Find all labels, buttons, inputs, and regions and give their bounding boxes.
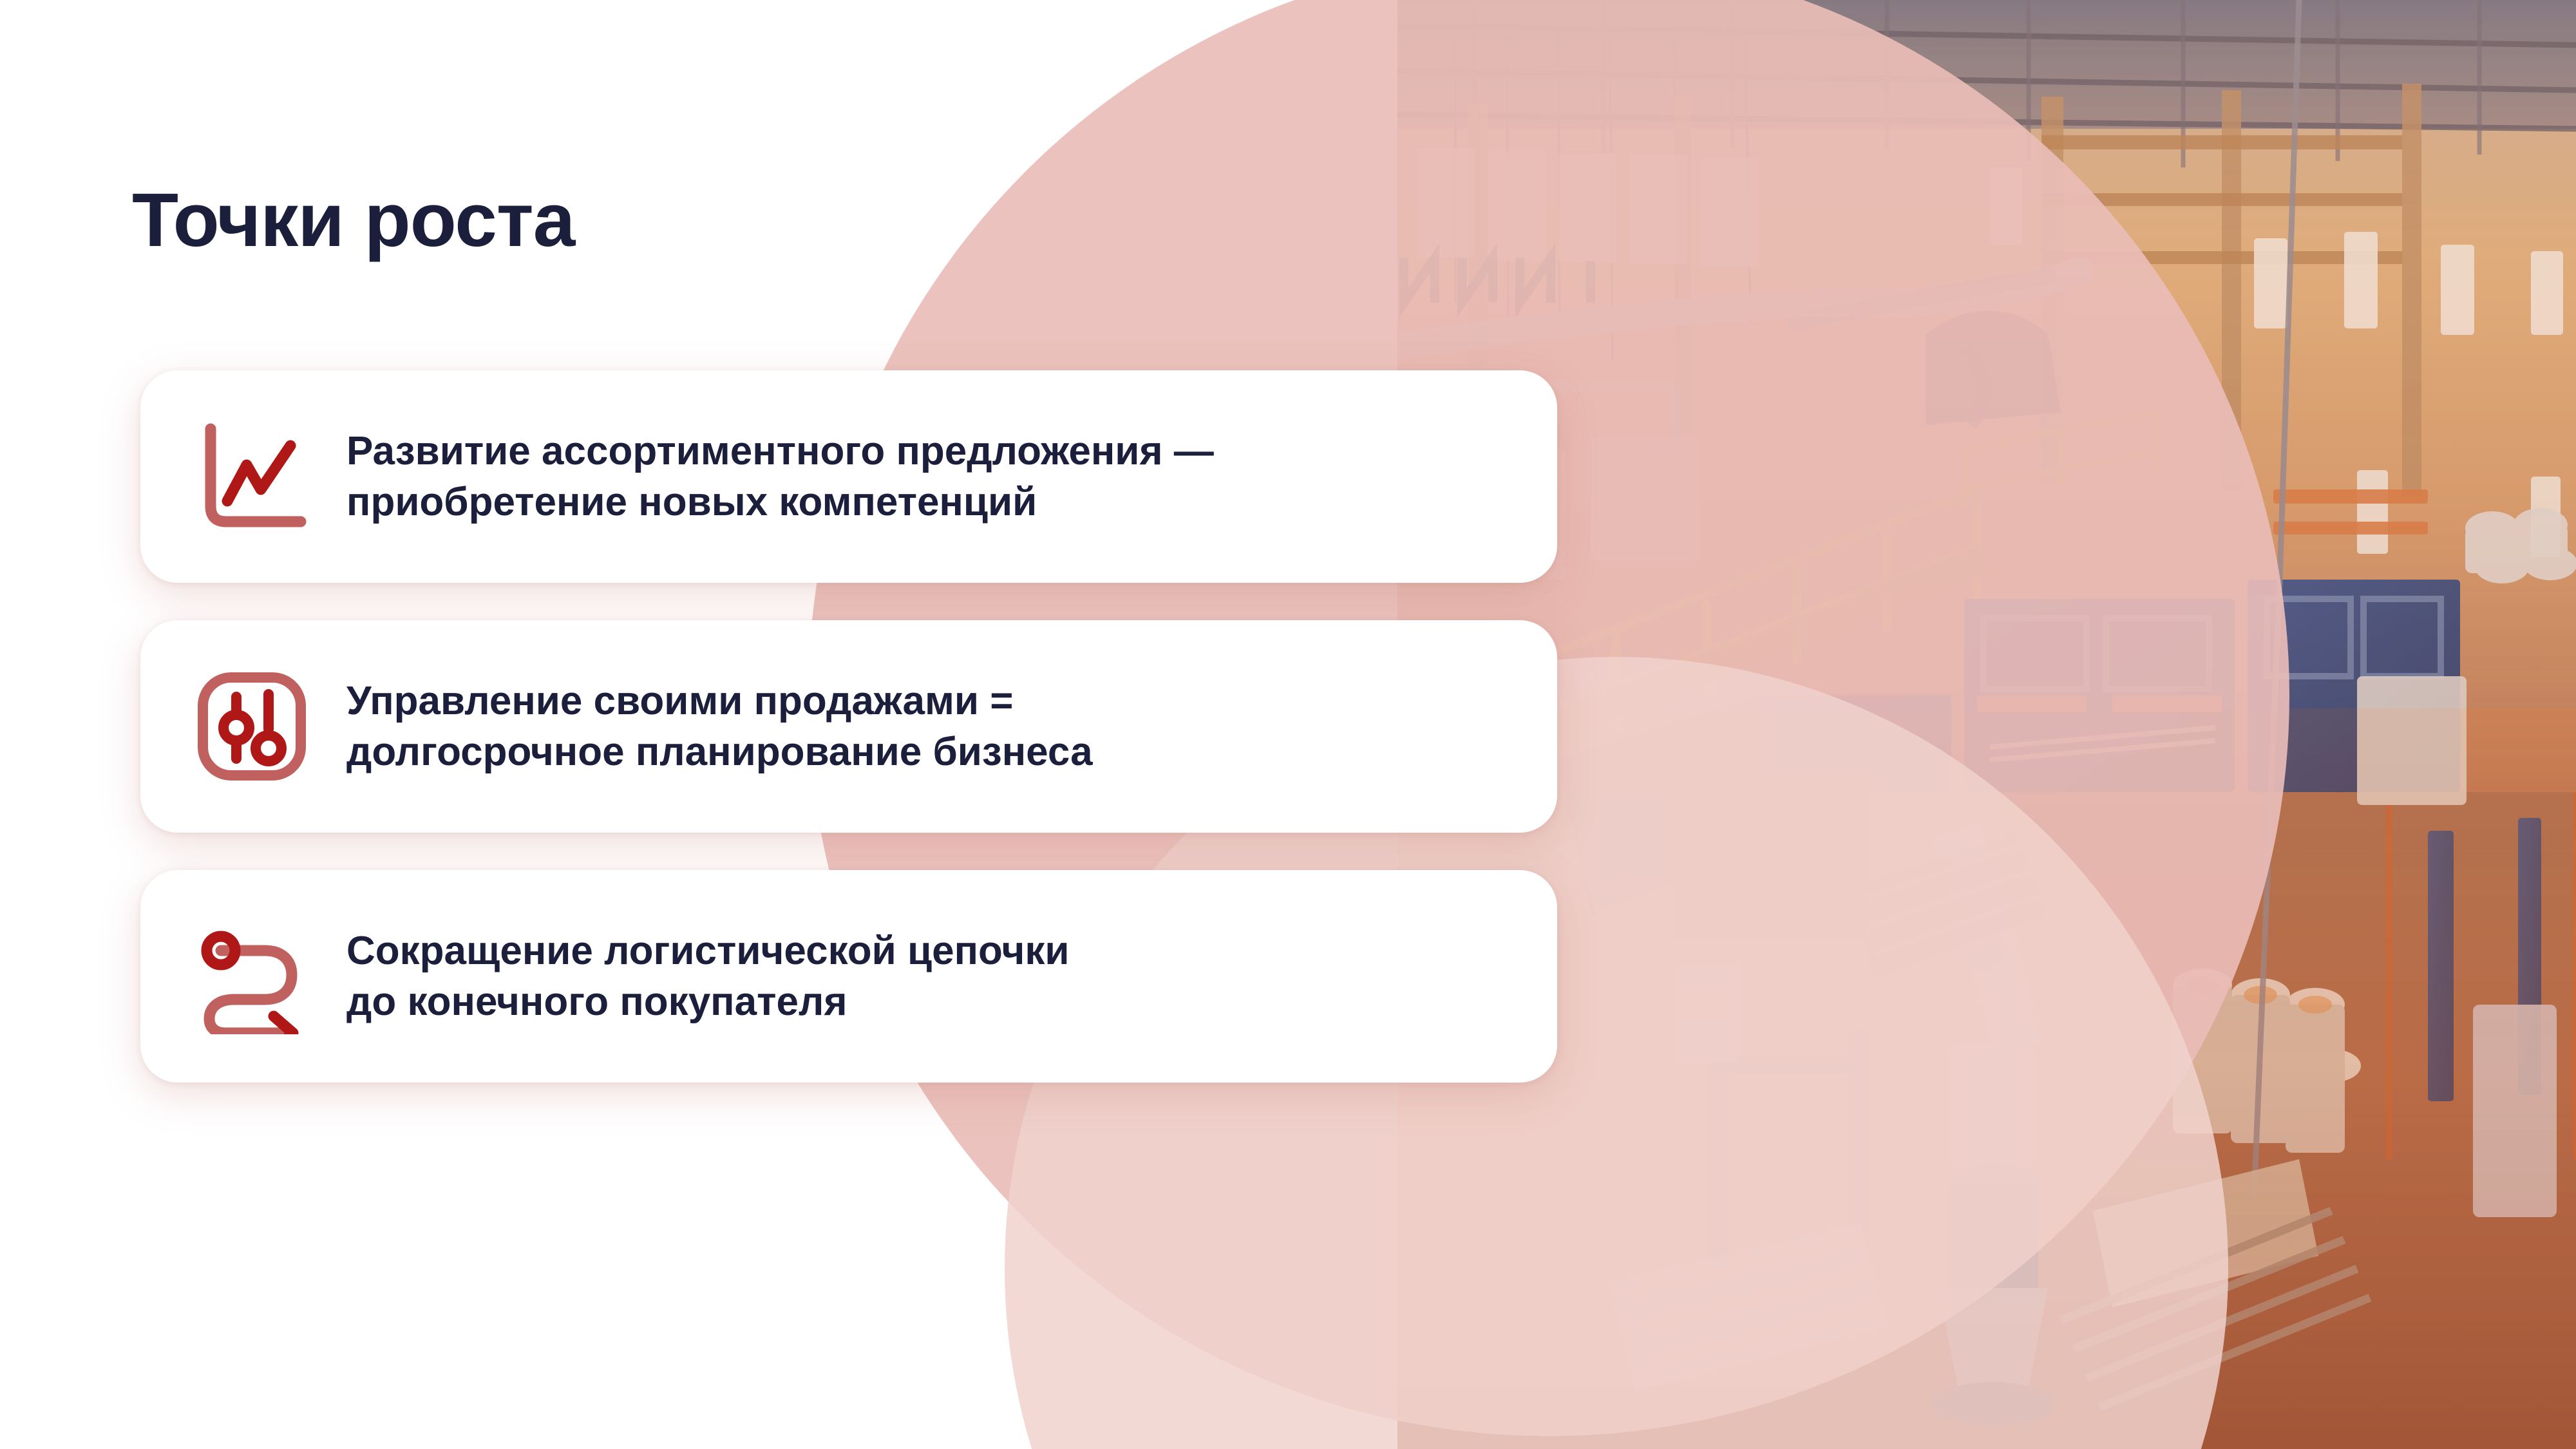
growth-point-text-2: Управление своими продажами = долгосрочн… (346, 676, 1093, 778)
growth-point-text-3: Сокращение логистической цепочки до коне… (346, 925, 1070, 1028)
route-path-icon (191, 915, 313, 1037)
growth-chart-icon (191, 415, 313, 538)
page-title: Точки роста (132, 176, 574, 264)
growth-points-list: Развитие ассортиментного предложения — п… (140, 370, 1557, 1083)
sliders-settings-icon (191, 665, 313, 788)
growth-point-card-1[interactable]: Развитие ассортиментного предложения — п… (140, 370, 1557, 583)
growth-point-card-3[interactable]: Сокращение логистической цепочки до коне… (140, 870, 1557, 1083)
slide-root: Точки роста Развитие ассортиментного пре… (0, 0, 2576, 1449)
growth-point-text-1: Развитие ассортиментного предложения — п… (346, 426, 1214, 528)
growth-point-card-2[interactable]: Управление своими продажами = долгосрочн… (140, 620, 1557, 833)
